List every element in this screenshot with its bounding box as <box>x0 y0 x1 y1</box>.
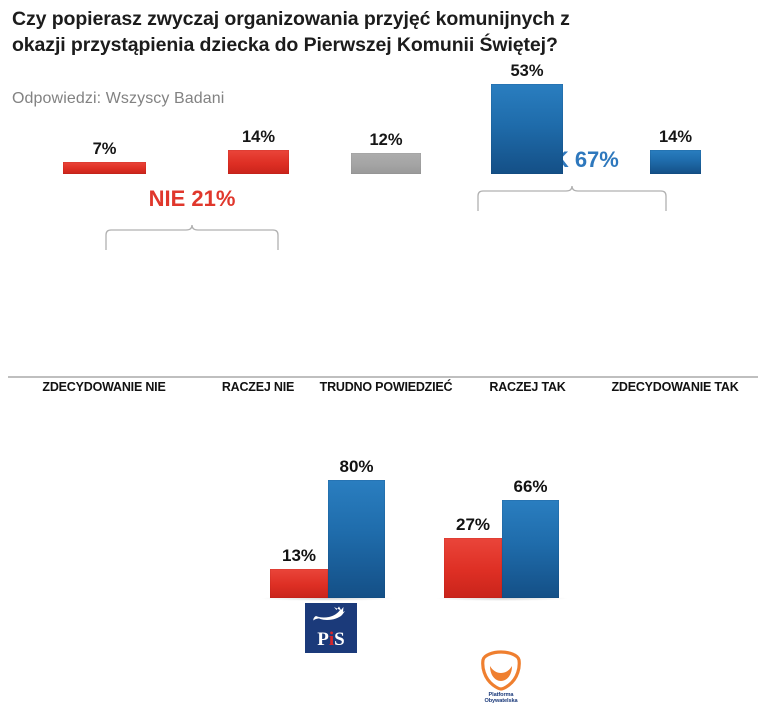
bar-po-nie-fill <box>444 538 502 598</box>
po-shield-icon <box>478 650 524 692</box>
category-label-raczej-nie: RACZEJ NIE <box>198 380 318 394</box>
bracket-nie <box>105 222 279 250</box>
pis-logo-letter-p: P <box>317 629 329 650</box>
bar-pis-tak-value: 80% <box>339 457 373 477</box>
bar-trudno-powiedziec-value: 12% <box>369 131 402 150</box>
page-title-line-2: okazji przystąpienia dziecka do Pierwsze… <box>12 32 754 58</box>
bar-pis-nie: 13% <box>270 569 328 598</box>
bar-raczej-tak-value: 53% <box>510 62 543 81</box>
category-label-zdecydowanie-tak: ZDECYDOWANIE TAK <box>585 380 765 394</box>
bar-pis-nie-fill <box>270 569 328 598</box>
po-logo-line-2: Obywatelska <box>484 698 517 704</box>
page-subtitle: Odpowiedzi: Wszyscy Badani <box>12 90 224 108</box>
bar-raczej-nie-value: 14% <box>242 128 275 147</box>
bar-po-tak: 66% <box>502 500 559 598</box>
category-label-trudno-powiedziec: TRUDNO POWIEDZIEĆ <box>302 380 470 394</box>
bar-po-tak-fill <box>502 500 559 598</box>
bar-pis-nie-value: 13% <box>282 546 316 566</box>
bar-trudno-powiedziec-fill <box>351 153 421 174</box>
bar-raczej-tak: 53% <box>491 84 563 174</box>
bar-pis-tak-fill <box>328 480 385 598</box>
bar-po-nie: 27% <box>444 538 502 598</box>
bar-zdecydowanie-tak-value: 14% <box>659 128 692 147</box>
pis-eagle-icon <box>311 605 351 629</box>
category-label-raczej-tak: RACZEJ TAK <box>470 380 585 394</box>
bar-raczej-nie-fill <box>228 150 289 174</box>
survey-infographic: Czy popierasz zwyczaj organizowania przy… <box>0 0 765 671</box>
bar-po-nie-value: 27% <box>456 515 490 535</box>
bar-zdecydowanie-nie-value: 7% <box>93 140 117 159</box>
bar-zdecydowanie-nie: 7% <box>63 162 146 174</box>
bar-zdecydowanie-tak: 14% <box>650 150 701 174</box>
page-title-line-1: Czy popierasz zwyczaj organizowania przy… <box>12 6 754 32</box>
bar-raczej-nie: 14% <box>228 150 289 174</box>
pis-logo-letter-s: S <box>334 629 345 650</box>
bar-zdecydowanie-nie-fill <box>63 162 146 174</box>
bar-trudno-powiedziec: 12% <box>351 153 421 174</box>
pis-logo-text: PiS <box>305 630 357 649</box>
po-logo-line-1: Platforma <box>489 692 514 698</box>
main-chart-axis-line <box>8 376 758 378</box>
po-party-logo: Platforma Obywatelska <box>471 650 531 704</box>
bar-zdecydowanie-tak-fill <box>650 150 701 174</box>
page-title: Czy popierasz zwyczaj organizowania przy… <box>12 6 754 58</box>
bracket-tak <box>477 183 667 211</box>
po-logo-text: Platforma Obywatelska <box>471 692 531 704</box>
pis-party-logo: PiS <box>305 603 357 653</box>
party-breakdown-chart: 13% 80% PiS 27% 66% <box>0 430 765 671</box>
bar-pis-tak: 80% <box>328 480 385 598</box>
main-bar-chart: NIE 21% TAK 67% 7% ZDECYDOWANIE NIE 14% … <box>0 150 765 400</box>
bar-po-tak-value: 66% <box>513 477 547 497</box>
bracket-nie-label: NIE 21% <box>149 186 236 212</box>
category-label-zdecydowanie-nie: ZDECYDOWANIE NIE <box>14 380 194 394</box>
bar-raczej-tak-fill <box>491 84 563 174</box>
